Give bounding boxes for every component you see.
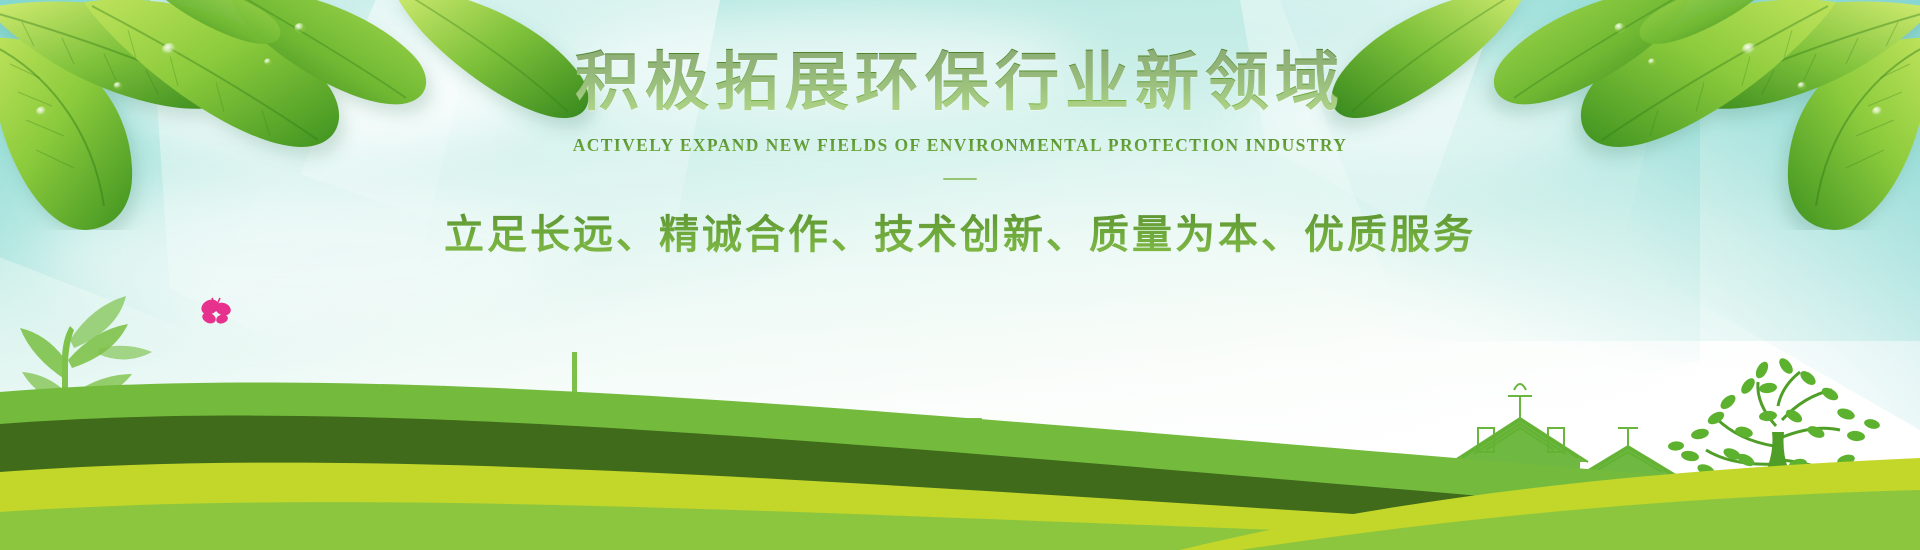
page-title: 积极拓展环保行业新领域 [0,48,1920,117]
eco-banner: 积极拓展环保行业新领域 ACTIVELY EXPAND NEW FIELDS O… [0,0,1920,550]
title-divider [943,178,977,180]
page-subtitle: ACTIVELY EXPAND NEW FIELDS OF ENVIRONMEN… [0,135,1920,156]
wave-bands [0,300,1920,550]
page-tagline: 立足长远、精诚合作、技术创新、质量为本、优质服务 [0,202,1920,260]
butterfly-pink [196,295,236,329]
headline-block: 积极拓展环保行业新领域 ACTIVELY EXPAND NEW FIELDS O… [0,48,1920,260]
